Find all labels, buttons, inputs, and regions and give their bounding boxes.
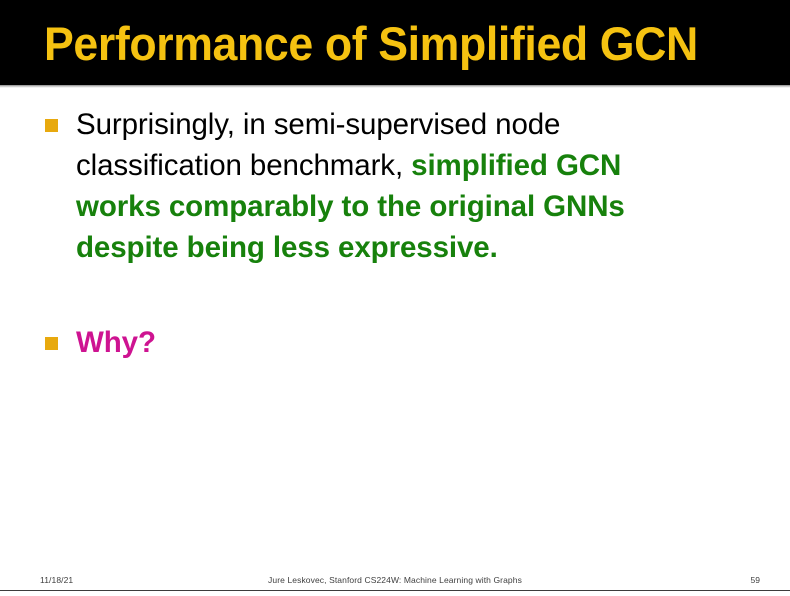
footer-attribution: Jure Leskovec, Stanford CS224W: Machine … xyxy=(0,575,790,585)
title-banner: Performance of Simplified GCN xyxy=(0,0,790,85)
banner-divider xyxy=(0,85,790,88)
square-bullet-icon xyxy=(45,119,58,132)
square-bullet-icon xyxy=(45,337,58,350)
slide-footer: 11/18/21 Jure Leskovec, Stanford CS224W:… xyxy=(0,568,790,596)
slide-body: Surprisingly, in semi-supervised node cl… xyxy=(0,104,790,363)
footer-divider xyxy=(0,590,790,591)
bullet-item-2-text: Why? xyxy=(76,322,696,363)
bullet-item-1-text: Surprisingly, in semi-supervised node cl… xyxy=(76,104,696,268)
slide: Performance of Simplified GCN Surprising… xyxy=(0,0,790,596)
footer-page-number: 59 xyxy=(751,575,760,585)
bullet-item-1: Surprisingly, in semi-supervised node cl… xyxy=(0,104,790,268)
slide-title: Performance of Simplified GCN xyxy=(44,16,698,72)
bullet-item-2: Why? xyxy=(0,322,790,363)
bullet-2-segment-question: Why? xyxy=(76,326,156,359)
